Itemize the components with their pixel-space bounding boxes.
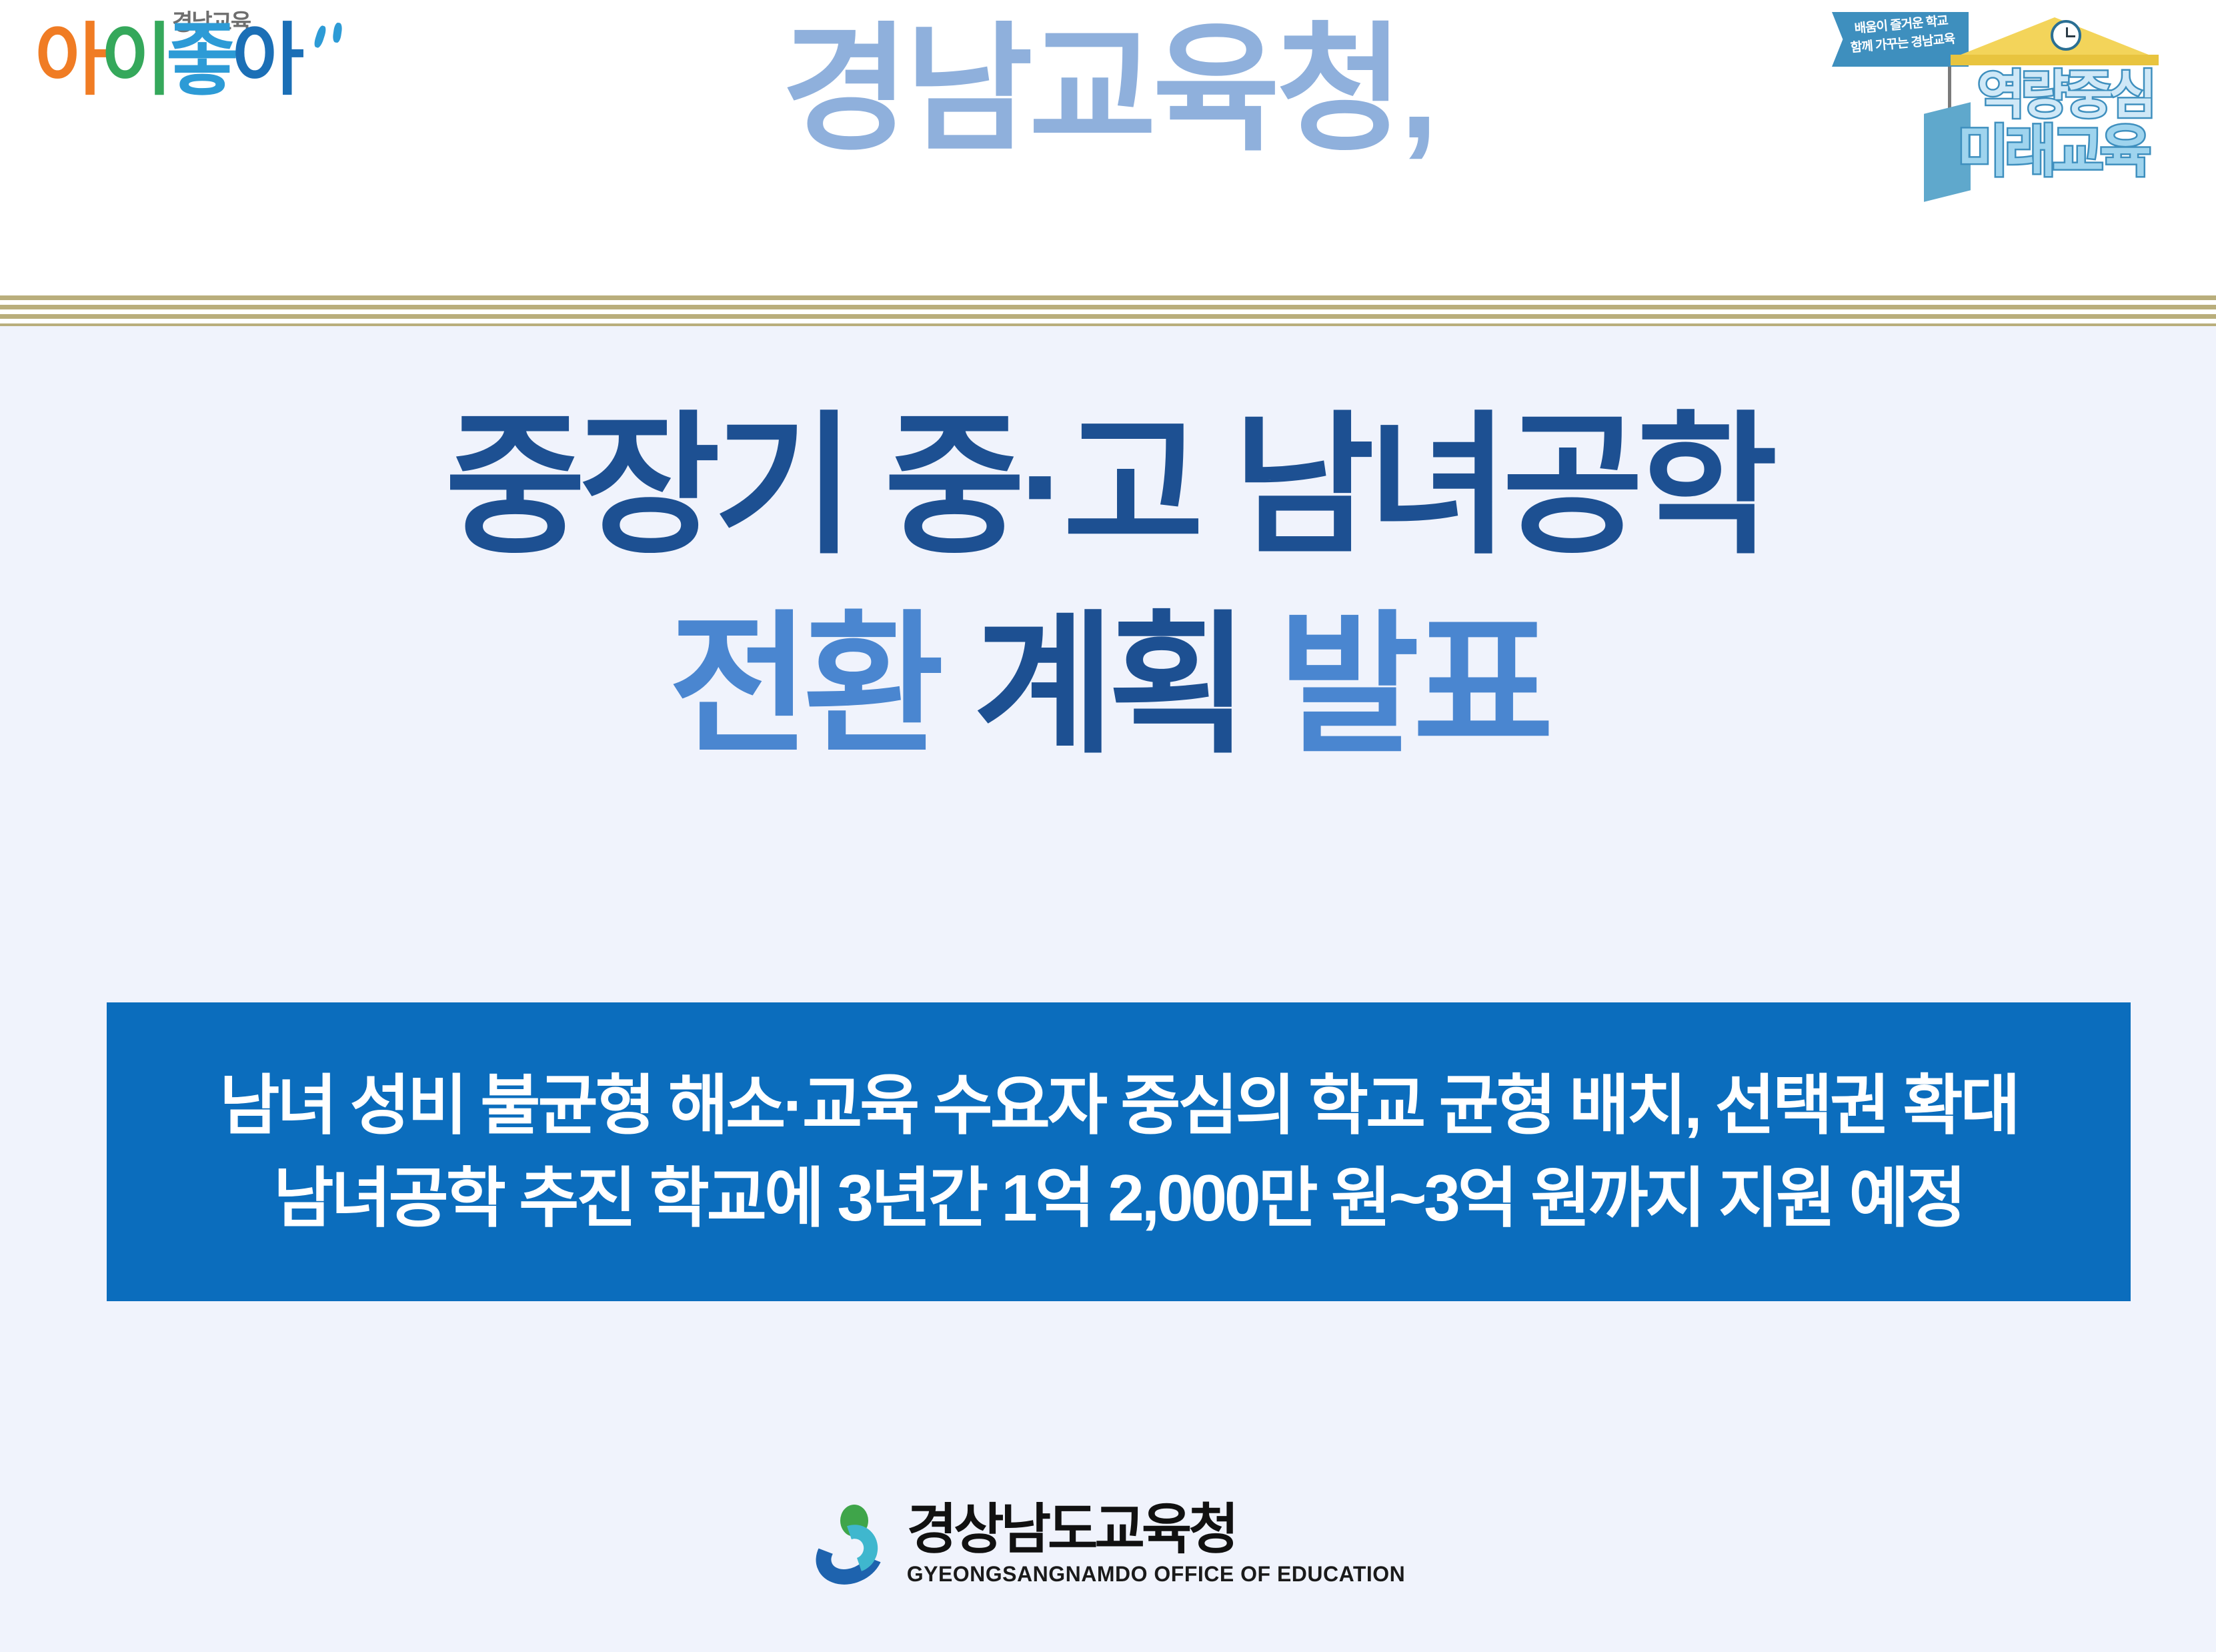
title-line-2-text-c: 발표 [1242, 600, 1547, 771]
future-education-logo: 배움이 즐거운 학교 함께 가꾸는 경남교육 역량중심 미래교육 [1825, 1, 2199, 201]
highlight-banner: 남녀 성비 불균형 해소·교육 수요자 중심의 학교 균형 배치, 선택권 확대… [107, 1002, 2131, 1301]
swirl-person-icon [811, 1505, 890, 1583]
office-name-english: GYEONGSANGNAMDO OFFICE OF EDUCATION [907, 1561, 1406, 1587]
office-name-block: 경상남도교육청 GYEONGSANGNAMDO OFFICE OF EDUCAT… [907, 1501, 1406, 1587]
banner-line-1: 남녀 성비 불균형 해소·교육 수요자 중심의 학교 균형 배치, 선택권 확대 [219, 1059, 2018, 1152]
title-line-2: 전환 계획 발표 [0, 586, 2216, 785]
divider-line-1 [0, 295, 2216, 300]
gold-divider [0, 295, 2216, 326]
poster-root: 경남교육 아이좋아 경남교육청, 배움이 즐거운 학교 함께 가꾸는 경남교육 … [0, 0, 2216, 1652]
divider-line-3 [0, 314, 2216, 319]
title-line-2-text-b: 계획 [974, 600, 1242, 771]
title-line-1: 중장기 중·고 남녀공학 [0, 386, 2216, 586]
header-bar: 경남교육 아이좋아 경남교육청, 배움이 즐거운 학교 함께 가꾸는 경남교육 … [0, 0, 2216, 295]
future-education-word-2: 미래교육 [1957, 107, 2147, 187]
clock-icon [2051, 20, 2081, 51]
office-name-korean: 경상남도교육청 [907, 1501, 1406, 1559]
main-content: 중장기 중·고 남녀공학 전환 계획 발표 남녀 성비 불균형 해소·교육 수요… [0, 326, 2216, 1652]
title-line-2-text-a: 전환 [669, 600, 974, 771]
announcement-title: 중장기 중·고 남녀공학 전환 계획 발표 [0, 386, 2216, 785]
title-line-1-text: 중장기 중·고 남녀공학 [445, 400, 1771, 572]
office-of-education-logo: 경상남도교육청 GYEONGSANGNAMDO OFFICE OF EDUCAT… [0, 1491, 2216, 1597]
banner-line-2: 남녀공학 추진 학교에 3년간 1억 2,000만 원~3억 원까지 지원 예정 [273, 1152, 1964, 1245]
divider-line-2 [0, 305, 2216, 309]
